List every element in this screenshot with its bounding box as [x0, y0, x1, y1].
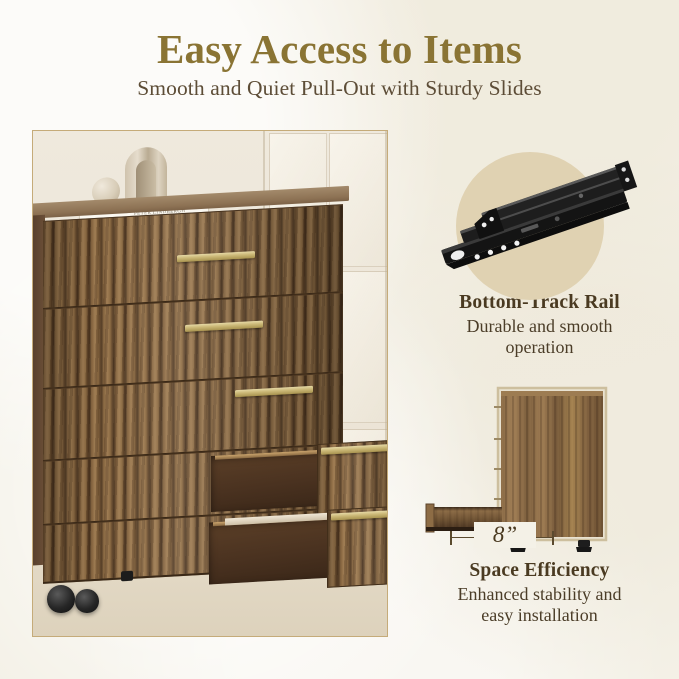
page-subtitle: Smooth and Quiet Pull-Out with Sturdy Sl… — [0, 77, 679, 101]
open-drawer-lower — [209, 504, 388, 597]
dimension-label: 8” — [474, 522, 536, 548]
feature-desc-space-line2: easy installation — [481, 605, 597, 625]
feature-desc-rail: Durable and smooth operation — [400, 316, 679, 358]
product-photo-panel: PETER LINDBERGH 400 — [32, 130, 388, 637]
caster-stem — [121, 571, 133, 582]
dimension-cap-left — [450, 531, 452, 545]
feature-figure-space: 8” — [400, 376, 679, 556]
feature-figure-rail — [400, 140, 679, 292]
features-column: Bottom-Track Rail Durable and smooth ope… — [400, 140, 679, 626]
page-title: Easy Access to Items — [0, 0, 679, 71]
caster-wheel — [75, 589, 99, 613]
dimension-indicator: 8” — [442, 524, 562, 548]
feature-title-space: Space Efficiency — [400, 560, 679, 582]
feature-desc-space: Enhanced stability and easy installation — [400, 584, 679, 626]
caster-wheel — [47, 585, 75, 613]
feature-desc-space-line1: Enhanced stability and — [458, 584, 622, 604]
feature-desc-rail-line1: Durable and smooth — [467, 316, 613, 336]
dimension-cap-right — [552, 531, 554, 545]
drawer-slide-rail-icon — [388, 134, 667, 294]
feature-desc-rail-line2: operation — [506, 337, 574, 357]
header: Easy Access to Items Smooth and Quiet Pu… — [0, 0, 679, 101]
